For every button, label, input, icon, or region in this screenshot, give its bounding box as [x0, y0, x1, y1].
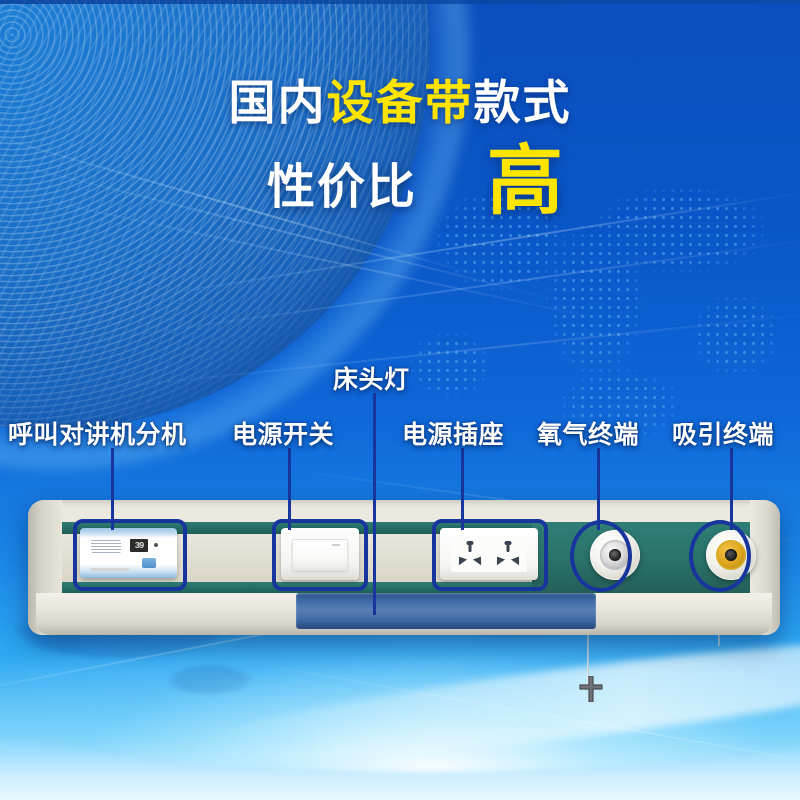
- status-led-icon: [154, 543, 158, 547]
- callout-intercom: 呼叫对讲机分机: [8, 415, 187, 451]
- leader-line-bed-lamp: [373, 393, 376, 615]
- rocker-indicator-icon: [332, 544, 340, 546]
- panel-body: 39: [28, 500, 780, 635]
- headline-line-1: 国内设备带款式: [0, 78, 800, 129]
- callout-power-socket: 电源插座: [402, 415, 504, 451]
- socket-pin-right-icon: [473, 554, 485, 565]
- socket-pin-top-icon: [469, 543, 472, 552]
- oxygen-terminal-port-icon: [609, 549, 621, 561]
- headline-part-3: 款式: [474, 76, 572, 129]
- headline-line-2: 性价比 高: [0, 147, 800, 217]
- headline-value-text: 性价比: [267, 147, 417, 217]
- oxygen-terminal[interactable]: [590, 530, 640, 580]
- intercom-display: 39: [130, 539, 148, 552]
- socket-faceplate: [451, 536, 527, 572]
- headline-emphasis-text: 高: [487, 148, 563, 216]
- top-edge-shade: [0, 0, 800, 4]
- socket-outlet-right[interactable]: [493, 541, 523, 567]
- suction-terminal-port-icon: [725, 549, 737, 561]
- speaker-grille-icon: [91, 540, 121, 553]
- callout-bed-lamp: 床头灯: [333, 360, 410, 396]
- headline-part-1: 国内: [229, 76, 327, 129]
- socket-pin-right-icon: [511, 554, 523, 565]
- callout-power-switch: 电源开关: [232, 415, 334, 451]
- suction-terminal-ring: [716, 540, 746, 570]
- socket-pin-left-icon: [493, 554, 505, 565]
- leader-line-intercom: [111, 448, 114, 530]
- leader-line-power-socket: [461, 448, 464, 530]
- leader-line-oxygen-terminal: [597, 448, 600, 530]
- leader-line-suction-terminal: [730, 448, 733, 530]
- intercom-call-button[interactable]: [142, 558, 156, 568]
- leader-line-power-switch: [288, 448, 291, 530]
- bed-lamp-diffuser[interactable]: [296, 593, 596, 629]
- headline-block: 国内设备带款式 性价比 高: [0, 78, 800, 217]
- poster-canvas: 国内设备带款式 性价比 高 呼叫对讲机分机 电源开关 床头灯 电源插座 氧气终端…: [0, 0, 800, 800]
- intercom-label-slot: [90, 568, 130, 571]
- bed-head-unit: 39: [28, 500, 780, 635]
- socket-outlet-left[interactable]: [455, 541, 485, 567]
- socket-pin-top-icon: [507, 543, 510, 552]
- cord-plug-icon: [578, 676, 604, 702]
- socket-pin-left-icon: [455, 554, 467, 565]
- callout-suction-terminal: 吸引终端: [672, 415, 774, 451]
- oxygen-terminal-ring: [600, 540, 630, 570]
- callout-oxygen-terminal: 氧气终端: [537, 415, 639, 451]
- power-socket[interactable]: [440, 528, 538, 580]
- nurse-call-intercom[interactable]: 39: [80, 528, 177, 578]
- rocker-plate[interactable]: [292, 539, 348, 571]
- power-switch[interactable]: [281, 528, 359, 580]
- headline-part-2: 设备带: [327, 76, 474, 129]
- suction-terminal[interactable]: [706, 530, 756, 580]
